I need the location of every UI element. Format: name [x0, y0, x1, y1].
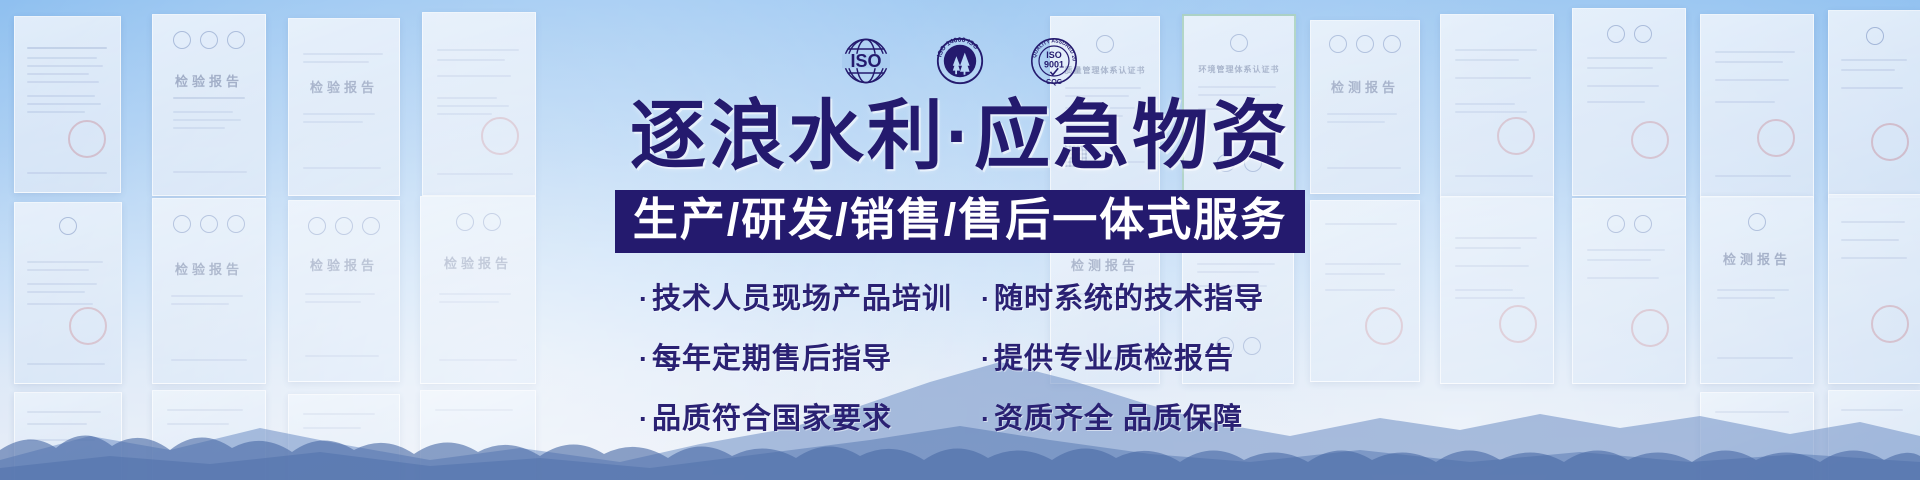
svg-text:ISO: ISO — [1046, 50, 1062, 60]
bullet-icon: · — [981, 344, 991, 374]
banner-content: ISO ISO 14000 ISO — [0, 0, 1920, 480]
list-item: ·随时系统的技术指导 — [981, 275, 1281, 317]
feature-text: 资质齐全 品质保障 — [994, 403, 1243, 435]
feature-text: 随时系统的技术指导 — [994, 283, 1264, 315]
iso-14000-badge: ISO 14000 ISO — [930, 31, 990, 91]
bullet-icon: · — [981, 404, 991, 434]
list-item: ·提供专业质检报告 — [981, 335, 1281, 377]
svg-text:CQC: CQC — [1046, 77, 1062, 86]
feature-text: 技术人员现场产品培训 — [652, 283, 952, 315]
iso-globe-badge: ISO — [836, 31, 896, 91]
bullet-icon: · — [639, 344, 649, 374]
list-item: ·技术人员现场产品培训 — [639, 275, 959, 317]
iso-9001-cqc-badge: ISO 9001 CQC QUALITY ASSURED 2018 — [1024, 31, 1084, 91]
bullet-icon: · — [981, 284, 991, 314]
feature-list: ·技术人员现场产品培训 ·随时系统的技术指导 ·每年定期售后指导 ·提供专业质检… — [639, 275, 1281, 437]
bullet-icon: · — [639, 404, 649, 434]
list-item: ·每年定期售后指导 — [639, 335, 959, 377]
list-item: ·品质符合国家要求 — [639, 395, 959, 437]
feature-text: 品质符合国家要求 — [652, 403, 892, 435]
certification-badges: ISO ISO 14000 ISO — [836, 30, 1084, 92]
promotional-banner: 检验报告 检验报告 — [0, 0, 1920, 480]
subtitle-bar: 生产/研发/销售/售后一体式服务 — [615, 190, 1306, 254]
svg-text:9001: 9001 — [1044, 60, 1064, 70]
feature-text: 提供专业质检报告 — [994, 343, 1234, 375]
svg-text:ISO: ISO — [850, 51, 881, 71]
bullet-icon: · — [639, 284, 649, 314]
page-title: 逐浪水利·应急物资 — [630, 98, 1290, 176]
list-item: ·资质齐全 品质保障 — [981, 395, 1281, 437]
feature-text: 每年定期售后指导 — [652, 343, 892, 375]
